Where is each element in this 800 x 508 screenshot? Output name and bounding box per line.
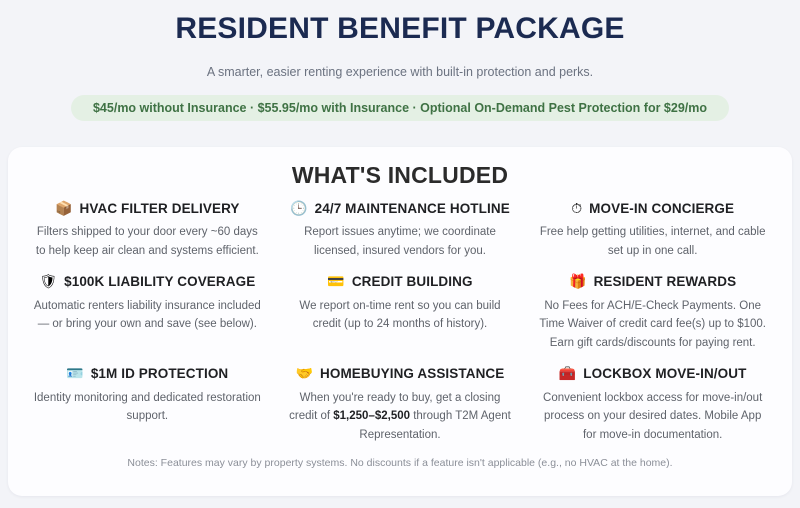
feature-title: HVAC FILTER DELIVERY <box>80 201 240 217</box>
card-title: WHAT'S INCLUDED <box>26 161 774 191</box>
feature-description: Filters shipped to your door every ~60 d… <box>32 223 263 260</box>
feature-item-hvac-filter-delivery: 📦 HVAC FILTER DELIVERY Filters shipped t… <box>26 201 269 260</box>
shield-icon: 🛡 <box>39 275 57 289</box>
handshake-icon: 🤝 <box>296 367 313 381</box>
feature-title: LOCKBOX MOVE-IN/OUT <box>583 366 746 382</box>
feature-item-lockbox-move-in-out: 🧰 LOCKBOX MOVE-IN/OUT Convenient lockbox… <box>531 366 774 444</box>
feature-title: $1M ID PROTECTION <box>91 366 228 382</box>
credit-card-icon: 💳 <box>327 275 344 289</box>
feature-item-id-protection: 🪪 $1M ID PROTECTION Identity monitoring … <box>26 366 269 444</box>
feature-item-maintenance-hotline: 🕒 24/7 MAINTENANCE HOTLINE Report issues… <box>279 201 522 260</box>
feature-title: $100K LIABILITY COVERAGE <box>64 274 255 290</box>
feature-heading: ⏱ MOVE-IN CONCIERGE <box>537 201 768 217</box>
hero-section: RESIDENT BENEFIT PACKAGE A smarter, easi… <box>0 0 800 121</box>
feature-item-resident-rewards: 🎁 RESIDENT REWARDS No Fees for ACH/E-Che… <box>531 274 774 352</box>
feature-title: MOVE-IN CONCIERGE <box>589 201 734 217</box>
feature-description: Report issues anytime; we coordinate lic… <box>285 223 516 260</box>
feature-heading: 🛡 $100K LIABILITY COVERAGE <box>32 274 263 290</box>
feature-title: 24/7 MAINTENANCE HOTLINE <box>315 201 510 217</box>
feature-item-liability-coverage: 🛡 $100K LIABILITY COVERAGE Automatic ren… <box>26 274 269 352</box>
feature-item-credit-building: 💳 CREDIT BUILDING We report on-time rent… <box>279 274 522 352</box>
feature-description: Identity monitoring and dedicated restor… <box>32 389 263 426</box>
feature-description: When you're ready to buy, get a closing … <box>285 389 516 445</box>
feature-heading: 🕒 24/7 MAINTENANCE HOTLINE <box>285 201 516 217</box>
feature-description: No Fees for ACH/E-Check Payments. One Ti… <box>537 297 768 353</box>
clock-icon: 🕒 <box>290 202 307 216</box>
gift-icon: 🎁 <box>569 275 586 289</box>
resident-benefit-package-page: RESIDENT BENEFIT PACKAGE A smarter, easi… <box>0 0 800 508</box>
pricing-badge: $45/mo without Insurance · $55.95/mo wit… <box>71 95 729 121</box>
feature-item-homebuying-assistance: 🤝 HOMEBUYING ASSISTANCE When you're read… <box>279 366 522 444</box>
feature-heading: 🤝 HOMEBUYING ASSISTANCE <box>285 366 516 382</box>
toolbox-icon: 🧰 <box>559 367 576 381</box>
feature-title: HOMEBUYING ASSISTANCE <box>320 366 504 382</box>
hero-subtitle: A smarter, easier renting experience wit… <box>0 64 800 82</box>
feature-description: Free help getting utilities, internet, a… <box>537 223 768 260</box>
id-card-icon: 🪪 <box>66 367 83 381</box>
page-title: RESIDENT BENEFIT PACKAGE <box>0 10 800 48</box>
feature-heading: 🪪 $1M ID PROTECTION <box>32 366 263 382</box>
feature-item-move-in-concierge: ⏱ MOVE-IN CONCIERGE Free help getting ut… <box>531 201 774 260</box>
feature-title: RESIDENT REWARDS <box>594 274 737 290</box>
feature-heading: 💳 CREDIT BUILDING <box>285 274 516 290</box>
pricing-row: $45/mo without Insurance · $55.95/mo wit… <box>0 95 800 121</box>
feature-description: We report on-time rent so you can build … <box>285 297 516 334</box>
feature-heading: 🎁 RESIDENT REWARDS <box>537 274 768 290</box>
feature-description-amount: $1,250–$2,500 <box>333 410 410 422</box>
whats-included-card: WHAT'S INCLUDED 📦 HVAC FILTER DELIVERY F… <box>8 147 792 496</box>
feature-description: Automatic renters liability insurance in… <box>32 297 263 334</box>
feature-title: CREDIT BUILDING <box>352 274 473 290</box>
package-box-icon: 📦 <box>55 202 72 216</box>
feature-description: Convenient lockbox access for move-in/ou… <box>537 389 768 445</box>
feature-heading: 📦 HVAC FILTER DELIVERY <box>32 201 263 217</box>
feature-heading: 🧰 LOCKBOX MOVE-IN/OUT <box>537 366 768 382</box>
footer-notes: Notes: Features may vary by property sys… <box>26 456 774 471</box>
feature-grid: 📦 HVAC FILTER DELIVERY Filters shipped t… <box>26 201 774 445</box>
stopwatch-icon: ⏱ <box>571 202 582 216</box>
